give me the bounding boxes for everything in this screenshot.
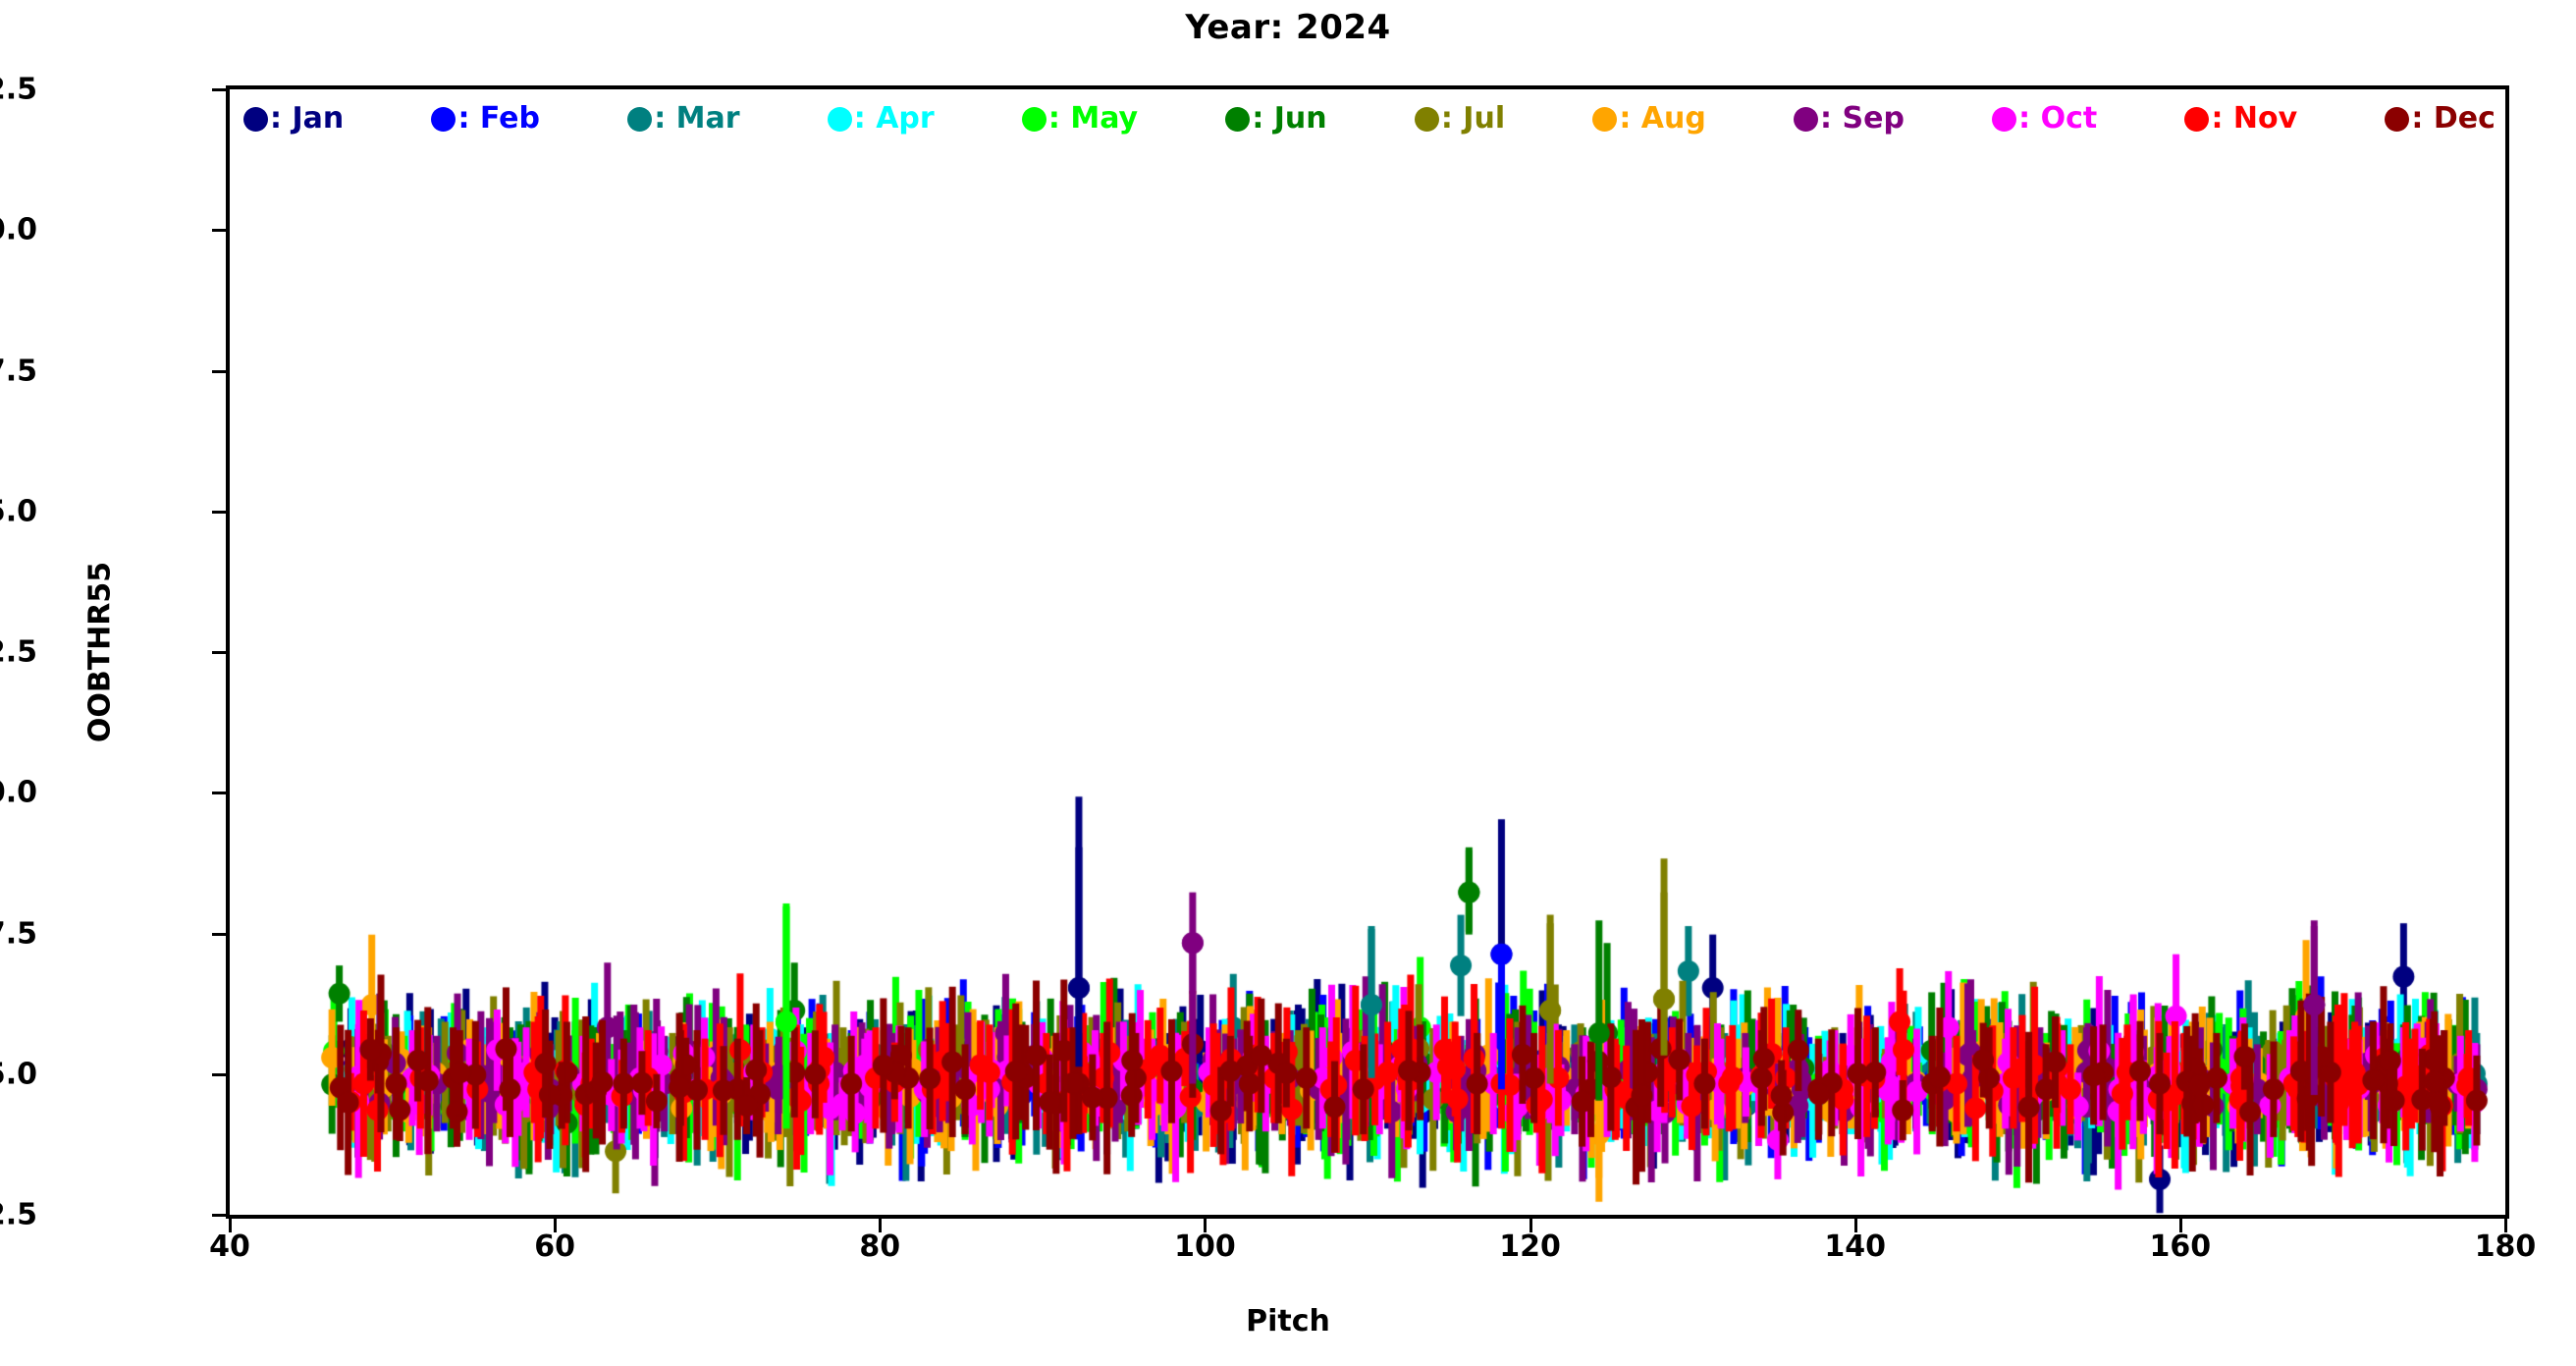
x-tick-mark [1204,1219,1207,1232]
legend-marker-jan-icon [243,107,268,132]
x-tick-label: 180 [2475,1229,2537,1264]
legend-item-mar[interactable]: : Mar [627,104,739,134]
y-tick-label: 260.0 [0,213,37,247]
legend-label-mar: : Mar [654,104,739,134]
legend-marker-aug-icon [1592,107,1617,132]
y-tick-mark [212,792,226,794]
legend-marker-sep-icon [1794,107,1818,132]
y-tick-mark [212,370,226,373]
legend-label-feb: : Feb [457,104,540,134]
y-tick-mark [212,933,226,936]
plot-area [226,85,2509,1219]
legend-item-sep[interactable]: : Sep [1794,104,1905,134]
legend-marker-dec-icon [2385,107,2409,132]
y-tick-mark [212,1073,226,1076]
chart-figure: Year: 2024 : Jan: Feb: Mar: Apr: May: Ju… [0,0,2576,1366]
y-tick-label: 242.5 [0,1198,37,1232]
x-tick-label: 80 [859,1229,900,1264]
x-tick-mark [554,1219,557,1232]
legend-marker-jun-icon [1225,107,1250,132]
x-tick-label: 100 [1174,1229,1236,1264]
x-axis-label: Pitch [0,1304,2576,1339]
y-tick-label: 262.5 [0,73,37,107]
legend-item-may[interactable]: : May [1022,104,1138,134]
legend-item-dec[interactable]: : Dec [2385,104,2495,134]
legend-item-jul[interactable]: : Jul [1415,104,1505,134]
x-tick-mark [2504,1219,2507,1232]
x-tick-label: 40 [209,1229,250,1264]
x-tick-label: 160 [2150,1229,2212,1264]
legend-label-aug: : Aug [1619,104,1706,134]
legend-label-may: : May [1048,104,1138,134]
legend-label-sep: : Sep [1820,104,1905,134]
legend-label-dec: : Dec [2411,104,2495,134]
y-tick-mark [212,651,226,654]
legend-item-jan[interactable]: : Jan [243,104,344,134]
y-tick-mark [212,511,226,514]
legend-label-jul: : Jul [1441,104,1505,134]
legend-marker-jul-icon [1415,107,1439,132]
y-tick-label: 247.5 [0,916,37,951]
legend-marker-feb-icon [431,107,456,132]
y-tick-label: 252.5 [0,635,37,670]
legend-label-jan: : Jan [270,104,344,134]
legend-label-jun: : Jun [1252,104,1326,134]
legend-item-apr[interactable]: : Apr [828,104,935,134]
legend-marker-apr-icon [828,107,852,132]
y-tick-label: 257.5 [0,354,37,388]
legend-item-nov[interactable]: : Nov [2184,104,2297,134]
x-tick-mark [2179,1219,2182,1232]
page-title: Year: 2024 [0,8,2576,47]
legend: : Jan: Feb: Mar: Apr: May: Jun: Jul: Aug… [234,90,2503,147]
y-tick-label: 250.0 [0,776,37,810]
y-tick-mark [212,229,226,232]
legend-item-jun[interactable]: : Jun [1225,104,1326,134]
y-tick-label: 255.0 [0,494,37,528]
legend-label-apr: : Apr [854,104,935,134]
x-tick-label: 140 [1824,1229,1886,1264]
x-tick-label: 120 [1499,1229,1561,1264]
legend-label-nov: : Nov [2211,104,2297,134]
y-tick-mark [212,88,226,91]
legend-item-aug[interactable]: : Aug [1592,104,1706,134]
x-tick-mark [1854,1219,1857,1232]
scatter-errorbar-canvas [230,89,2505,1215]
legend-item-oct[interactable]: : Oct [1992,104,2097,134]
y-tick-mark [212,1214,226,1217]
x-tick-mark [229,1219,232,1232]
x-tick-mark [1529,1219,1532,1232]
y-tick-label: 245.0 [0,1057,37,1091]
legend-marker-may-icon [1022,107,1046,132]
legend-marker-mar-icon [627,107,652,132]
y-axis-label: OOBTHR55 [83,562,118,742]
x-tick-mark [879,1219,882,1232]
x-tick-label: 60 [534,1229,575,1264]
legend-label-oct: : Oct [2018,104,2097,134]
legend-marker-nov-icon [2184,107,2209,132]
legend-marker-oct-icon [1992,107,2016,132]
legend-item-feb[interactable]: : Feb [431,104,540,134]
